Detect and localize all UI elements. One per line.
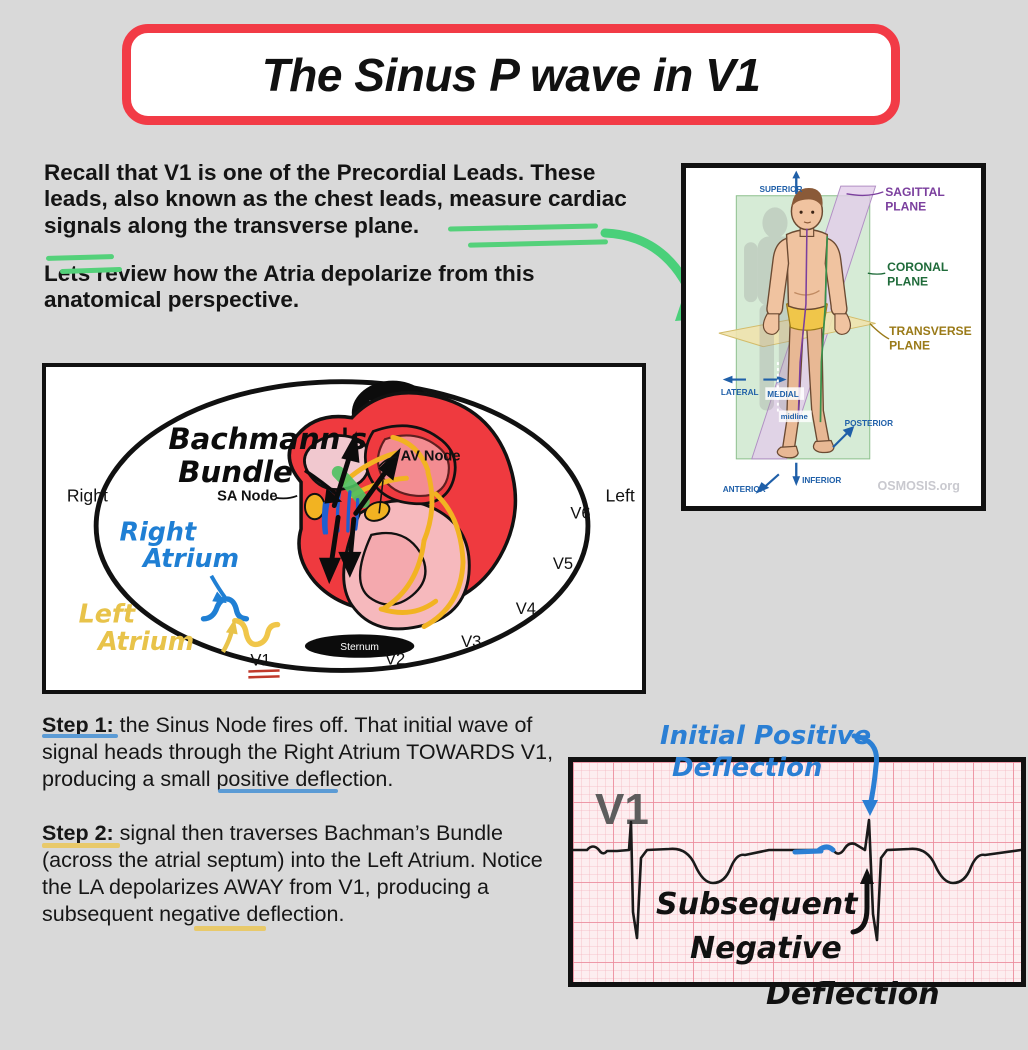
intro-text-block: Recall that V1 is one of the Precordial … <box>44 160 644 314</box>
steps-block: Step 1: the Sinus Node fires off. That i… <box>42 712 562 929</box>
sagittal-plane-label-2: PLANE <box>885 199 926 213</box>
ecg-lead-label: V1 <box>595 785 649 834</box>
step-2-label: Step 2: <box>42 821 114 845</box>
lead-label-v4: V4 <box>516 599 536 618</box>
medial-label: MEDIAL <box>767 390 799 399</box>
step-1-paragraph: Step 1: the Sinus Node fires off. That i… <box>42 712 562 793</box>
transverse-plane-label: TRANSVERSE <box>889 324 972 338</box>
step-2-label-underline <box>42 843 120 848</box>
transverse-heart-panel: Vertebral body Sternum Right Left <box>42 363 646 694</box>
infographic-page: The Sinus P wave in V1 Recall that V1 is… <box>0 0 1028 1050</box>
lead-label-v2: V2 <box>385 650 405 669</box>
step-2-text: signal then traverses Bachman’s Bundle (… <box>42 821 543 926</box>
sagittal-plane-label: SAGITTAL <box>885 185 945 199</box>
transverse-heart-diagram: Vertebral body Sternum Right Left <box>46 367 642 690</box>
sternum-label: Sternum <box>340 642 379 653</box>
step-2-paragraph: Step 2: signal then traverses Bachman’s … <box>42 820 562 928</box>
step-1-text: the Sinus Node fires off. That initial w… <box>42 713 553 791</box>
sa-node-label: SA Node <box>217 489 277 505</box>
lead-label-v5: V5 <box>553 554 573 573</box>
anatomical-planes-diagram: SAGITTAL PLANE CORONAL PLANE TRANSVERSE … <box>686 168 981 506</box>
right-atrium-label-2: Atrium <box>141 543 239 573</box>
coronal-plane-label: CORONAL <box>887 260 948 274</box>
away-underline <box>194 926 266 931</box>
lead-label-v6: V6 <box>570 503 590 522</box>
lead-label-v3: V3 <box>461 632 481 651</box>
left-atrium-label-1: Left <box>79 599 136 629</box>
intro-paragraph-2: Lets review how the Atria depolarize fro… <box>44 261 644 314</box>
bachmanns-bundle-label-1: Bachmann's <box>168 422 367 456</box>
ecg-strip-panel: V1 <box>568 757 1026 987</box>
initial-positive-deflection-label-1: Initial Positive <box>660 721 871 751</box>
transverse-plane-label-2: PLANE <box>889 339 930 353</box>
right-orientation-label: Right <box>67 486 108 506</box>
midline-label: midline <box>781 412 809 421</box>
left-orientation-label: Left <box>606 486 635 506</box>
title-card: The Sinus P wave in V1 <box>122 24 900 125</box>
inferior-label: INFERIOR <box>802 476 841 485</box>
step-1-label-underline <box>42 734 118 738</box>
bachmanns-bundle-label-2: Bundle <box>178 455 293 489</box>
anatomical-planes-panel: SAGITTAL PLANE CORONAL PLANE TRANSVERSE … <box>681 163 986 511</box>
coronal-plane-label-2: PLANE <box>887 275 928 289</box>
posterior-label: POSTERIOR <box>845 419 893 428</box>
lateral-label: LATERAL <box>721 388 759 397</box>
towards-underline <box>218 789 338 793</box>
av-node-label: AV Node <box>401 449 461 465</box>
osmosis-watermark: OSMOSIS.org <box>878 479 960 493</box>
lead-label-v1: V1 <box>250 651 270 670</box>
left-atrium-label-2: Atrium <box>96 626 194 656</box>
page-title: The Sinus P wave in V1 <box>262 48 761 102</box>
ecg-waveform-chart: V1 <box>573 762 1021 982</box>
